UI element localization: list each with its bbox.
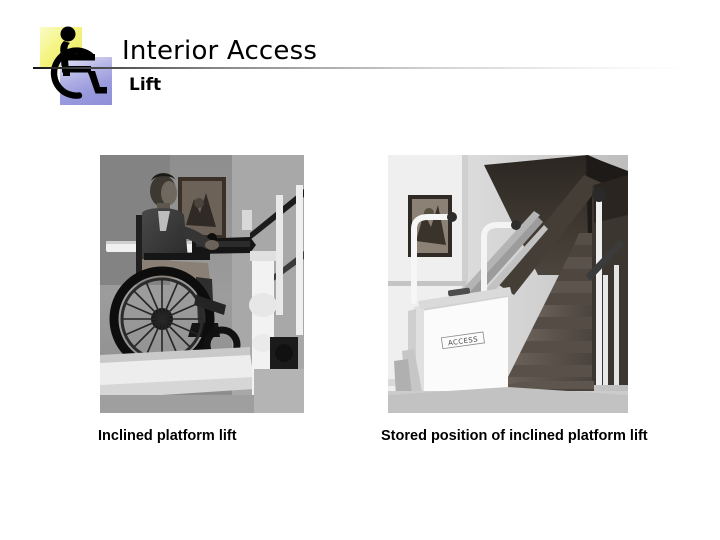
page-subtitle: Lift bbox=[129, 75, 161, 95]
figure-image-inclined-platform-lift-stored: ACCESS bbox=[388, 155, 628, 413]
header-divider bbox=[33, 67, 685, 69]
figure-caption-right: Stored position of inclined platform lif… bbox=[381, 428, 648, 444]
slide-canvas: Interior Access Lift bbox=[0, 0, 720, 540]
wheelchair-accessibility-logo bbox=[40, 27, 112, 105]
wheelchair-icon bbox=[43, 25, 115, 105]
figure-image-inclined-platform-lift-in-use bbox=[100, 155, 304, 413]
figure-caption-left: Inclined platform lift bbox=[98, 428, 237, 444]
page-title: Interior Access bbox=[122, 36, 317, 66]
